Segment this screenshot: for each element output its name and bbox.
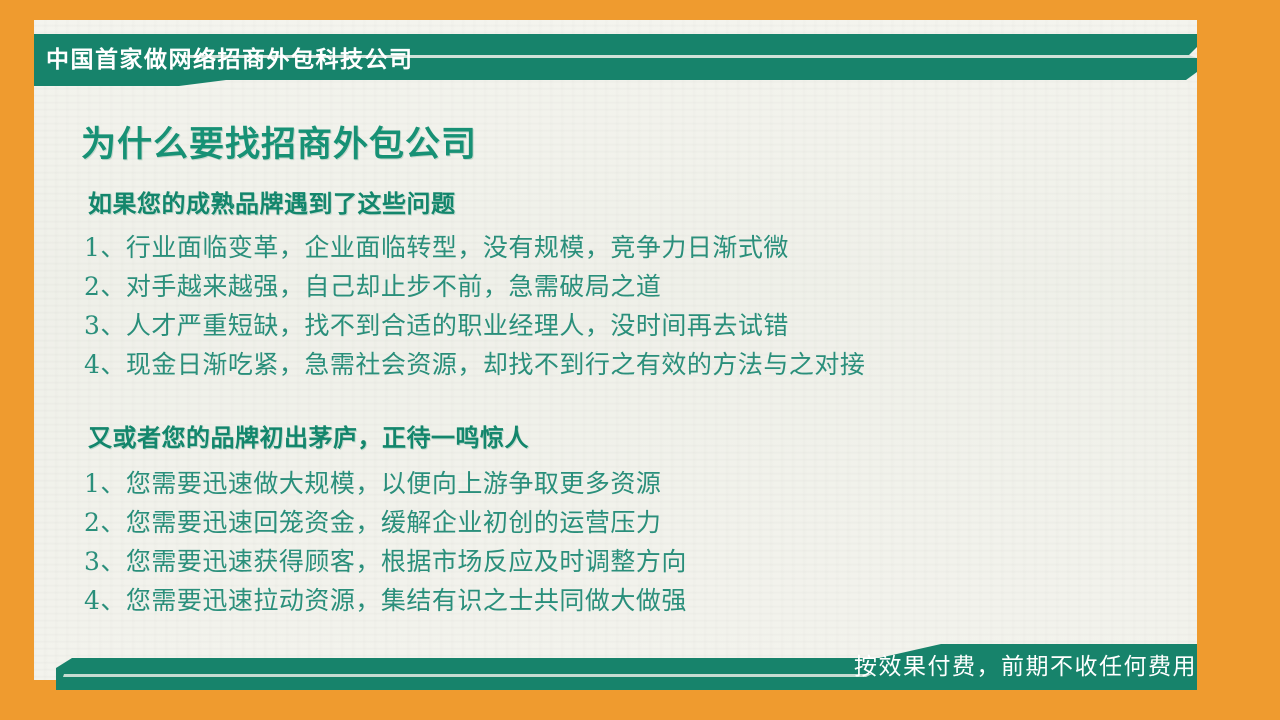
footer-tagline: 按效果付费，前期不收任何费用 bbox=[854, 650, 1197, 682]
section-heading-problems: 如果您的成熟品牌遇到了这些问题 bbox=[88, 184, 456, 219]
footer-band-separator-line bbox=[63, 674, 872, 677]
list-item: 1、您需要迅速做大规模，以便向上游争取更多资源 bbox=[84, 464, 687, 503]
slide-root: 中国首家做网络招商外包科技公司 为什么要找招商外包公司 如果您的成熟品牌遇到了这… bbox=[0, 0, 1280, 720]
newbrand-list: 1、您需要迅速做大规模，以便向上游争取更多资源 2、您需要迅速回笼资金，缓解企业… bbox=[84, 464, 687, 620]
list-item: 4、您需要迅速拉动资源，集结有识之士共同做大做强 bbox=[84, 581, 687, 620]
section-heading-newbrand: 又或者您的品牌初出茅庐，正待一鸣惊人 bbox=[88, 418, 529, 453]
list-item: 3、人才严重短缺，找不到合适的职业经理人，没时间再去试错 bbox=[84, 306, 865, 345]
list-item: 4、现金日渐吃紧，急需社会资源，却找不到行之有效的方法与之对接 bbox=[84, 345, 865, 384]
problems-list: 1、行业面临变革，企业面临转型，没有规模，竞争力日渐式微 2、对手越来越强，自己… bbox=[84, 228, 865, 384]
list-item: 2、您需要迅速回笼资金，缓解企业初创的运营压力 bbox=[84, 503, 687, 542]
header-tagline: 中国首家做网络招商外包科技公司 bbox=[46, 40, 414, 78]
slide-content: 为什么要找招商外包公司 如果您的成熟品牌遇到了这些问题 1、行业面临变革，企业面… bbox=[34, 96, 1197, 626]
page-title: 为什么要找招商外包公司 bbox=[81, 116, 477, 167]
list-item: 2、对手越来越强，自己却止步不前，急需破局之道 bbox=[84, 267, 865, 306]
list-item: 1、行业面临变革，企业面临转型，没有规模，竞争力日渐式微 bbox=[84, 228, 865, 267]
list-item: 3、您需要迅速获得顾客，根据市场反应及时调整方向 bbox=[84, 542, 687, 581]
